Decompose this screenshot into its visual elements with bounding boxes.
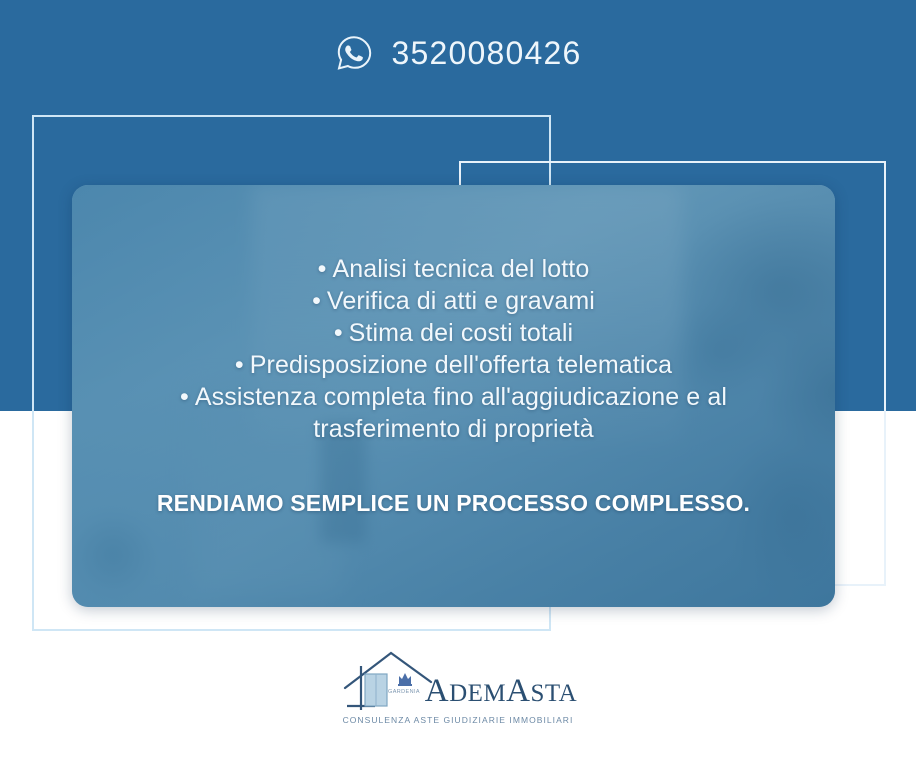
bullet-marker-icon: • [235, 349, 244, 381]
logo-word-sta: STA [531, 680, 578, 707]
poster-root: 3520080426 •Analisi tecnica del lotto •V… [0, 0, 916, 768]
tagline: RENDIAMO SEMPLICE UN PROCESSO COMPLESSO. [157, 490, 750, 517]
bullet-marker-icon: • [334, 317, 343, 349]
logo-mark-label: GARDENIA [388, 689, 420, 695]
list-item-label: Assistenza completa fino all'aggiudicazi… [195, 383, 727, 443]
house-logo-icon: GARDENIA [339, 648, 435, 714]
logo-word-dem: DEM [449, 680, 506, 707]
list-item: •Verifica di atti e gravami [134, 285, 774, 317]
list-item: •Assistenza completa fino all'aggiudicaz… [134, 381, 774, 445]
bullet-marker-icon: • [312, 285, 321, 317]
logo-row: GARDENIA ADEMASTA [339, 648, 577, 708]
list-item-label: Analisi tecnica del lotto [333, 255, 590, 283]
list-item: •Predisposizione dell'offerta telematica [134, 349, 774, 381]
content-card: •Analisi tecnica del lotto •Verifica di … [72, 185, 835, 607]
footer-logo-block: GARDENIA ADEMASTA CONSULENZA ASTE GIUDIZ… [0, 648, 916, 725]
header-contact: 3520080426 [0, 34, 916, 72]
logo-wordmark: ADEMASTA [425, 675, 577, 708]
list-item-label: Predisposizione dell'offerta telematica [250, 351, 672, 379]
whatsapp-icon[interactable] [335, 34, 373, 72]
logo-subtitle: CONSULENZA ASTE GIUDIZIARIE IMMOBILIARI [343, 715, 574, 725]
logo-word-a2: A [506, 673, 530, 709]
list-item: •Analisi tecnica del lotto [134, 253, 774, 285]
service-bullet-list: •Analisi tecnica del lotto •Verifica di … [134, 253, 774, 445]
bullet-marker-icon: • [180, 381, 189, 413]
logo-word-a1: A [425, 673, 449, 709]
bullet-marker-icon: • [318, 253, 327, 285]
phone-number[interactable]: 3520080426 [392, 37, 582, 69]
list-item-label: Verifica di atti e gravami [327, 287, 595, 315]
list-item: •Stima dei costi totali [134, 317, 774, 349]
list-item-label: Stima dei costi totali [349, 319, 574, 347]
card-content: •Analisi tecnica del lotto •Verifica di … [72, 185, 835, 607]
